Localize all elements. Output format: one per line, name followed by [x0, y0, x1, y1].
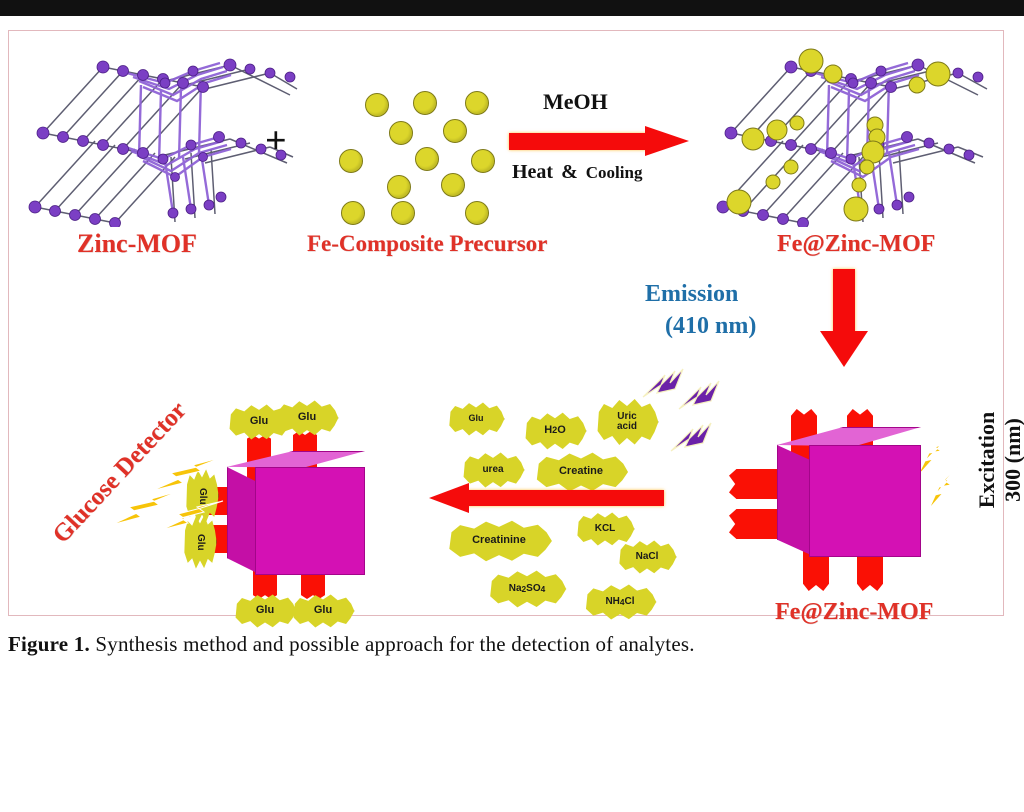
excitation-down-arrow [819, 269, 869, 369]
plus-sign: + [265, 119, 287, 163]
emission-value-label: (410 nm) [665, 313, 756, 340]
synthesis-arrow-right [509, 126, 699, 156]
fe-zinc-mof-bottom-label: Fe@Zinc-MOF [775, 599, 933, 626]
cube-face-front [809, 445, 921, 557]
analyte-na2so4: Na2SO4 [487, 569, 567, 609]
heat-cooling-row: Heat & Cooling [512, 161, 642, 184]
analyte-kcl: KCL [575, 511, 635, 547]
analyte-glu: Glu [447, 401, 505, 437]
ampersand-label: & [561, 161, 578, 184]
analyte-uric-acid: Uricacid [595, 397, 659, 447]
fe-zinc-mof-top-label: Fe@Zinc-MOF [777, 231, 935, 258]
glucose-detector-cube-left: Glu Glu Glu Glu Glu Glu [209, 411, 399, 611]
cube-face-left [777, 445, 811, 555]
fe-zinc-mof-lattice [701, 37, 1001, 227]
glu-blob-top-right: Glu [275, 399, 339, 437]
excitation-title-label: Excitation [974, 380, 1000, 540]
fe-zinc-mof-cube-right [761, 409, 941, 589]
analyte-creatinine: Creatinine [445, 519, 553, 563]
meoh-label: MeOH [543, 89, 608, 115]
cooling-label: Cooling [586, 163, 643, 183]
detection-arrow-left [429, 483, 664, 513]
figure-caption: Figure 1. Synthesis method and possible … [8, 632, 1008, 657]
analyte-nh4cl: NH4Cl [583, 583, 657, 621]
figure-page: Zinc-MOF + Fe-Composite Precursor MeOH [0, 0, 1024, 812]
figure-frame: Zinc-MOF + Fe-Composite Precursor MeOH [8, 30, 1004, 616]
cube-face-front-2 [255, 467, 365, 575]
zinc-mof-lattice [15, 37, 305, 227]
caption-label: Figure 1. [8, 632, 90, 656]
fe-composite-precursor-dots [329, 79, 509, 229]
top-black-bar [0, 0, 1024, 16]
emission-title-label: Emission [645, 281, 738, 308]
fe-composite-precursor-label: Fe-Composite Precursor [307, 231, 547, 257]
excitation-value-label: 300 (nm) [1000, 380, 1024, 540]
glu-blob-bottom-right: Glu [291, 593, 355, 629]
zinc-mof-label: Zinc-MOF [77, 229, 197, 259]
cube-face-left-2 [227, 467, 257, 573]
glu-blob-bottom-left: Glu [233, 593, 297, 629]
analyte-nacl: NaCl [617, 539, 677, 575]
caption-text: Synthesis method and possible approach f… [95, 632, 694, 656]
analyte-h2o: H2O [523, 411, 587, 451]
heat-label: Heat [512, 161, 553, 184]
